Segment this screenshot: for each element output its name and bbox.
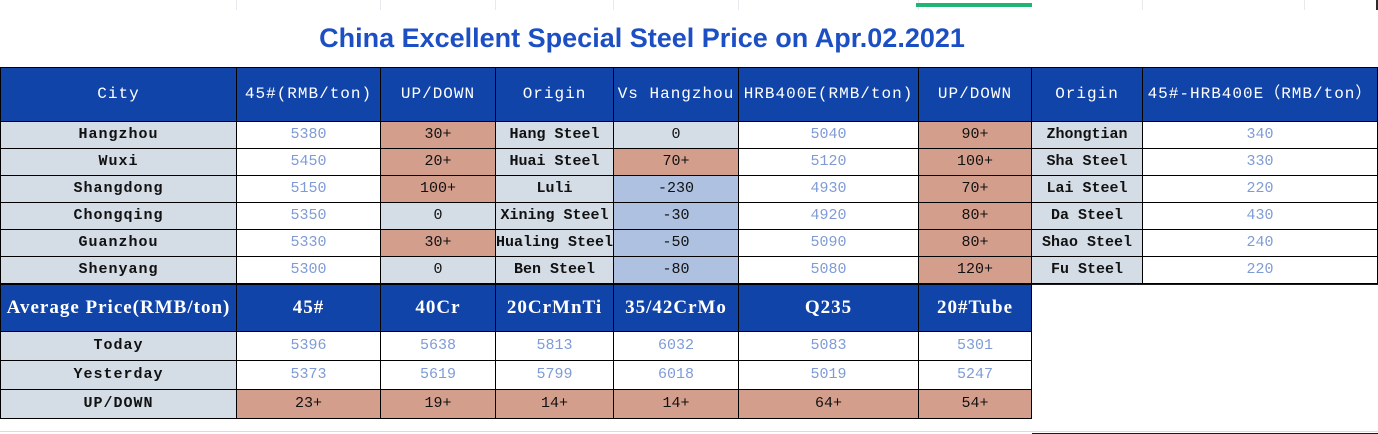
cell-average-value[interactable]: 5619	[381, 361, 496, 390]
cell-city[interactable]: Shangdong	[1, 176, 237, 203]
cell-average-value[interactable]: 14+	[614, 390, 739, 419]
cell-hrb400e-price[interactable]: 5090	[739, 230, 919, 257]
cell-45-origin[interactable]: Hualing Steel	[496, 230, 614, 257]
cell-45-price[interactable]: 5350	[237, 203, 381, 230]
cell-45-price[interactable]: 5330	[237, 230, 381, 257]
cell-45-updown[interactable]: 0	[381, 257, 496, 284]
cell-price-diff[interactable]: 430	[1143, 203, 1378, 230]
cell-hrb400e-origin[interactable]: Da Steel	[1032, 203, 1143, 230]
cell-45-origin[interactable]: Huai Steel	[496, 149, 614, 176]
cell-45-updown[interactable]: 20+	[381, 149, 496, 176]
cell-city[interactable]: Shenyang	[1, 257, 237, 284]
cell-hrb400e-origin[interactable]: Shao Steel	[1032, 230, 1143, 257]
cell-hrb400e-updown[interactable]: 80+	[919, 230, 1032, 257]
cell-45-updown[interactable]: 0	[381, 203, 496, 230]
header-45-origin[interactable]: Origin	[496, 68, 614, 122]
cell-price-diff[interactable]: 330	[1143, 149, 1378, 176]
column-separator	[613, 0, 614, 10]
average-price-table: Average Price(RMB/ton) 45# 40Cr 20CrMnTi…	[0, 284, 1032, 419]
table-row: Today539656385813603250835301	[1, 332, 1032, 361]
column-separator	[1304, 0, 1305, 10]
cell-hrb400e-price[interactable]: 4920	[739, 203, 919, 230]
cell-hrb400e-price[interactable]: 4930	[739, 176, 919, 203]
column-separator	[380, 0, 381, 10]
cell-hrb400e-updown[interactable]: 70+	[919, 176, 1032, 203]
cell-city[interactable]: Hangzhou	[1, 122, 237, 149]
cell-vs-hangzhou[interactable]: 0	[614, 122, 739, 149]
cell-45-origin[interactable]: Luli	[496, 176, 614, 203]
table-row: Chongqing53500Xining Steel-30492080+Da S…	[1, 203, 1378, 230]
table-row: Guanzhou533030+Hualing Steel-50509080+Sh…	[1, 230, 1378, 257]
cell-average-value[interactable]: 5396	[237, 332, 381, 361]
cell-45-price[interactable]: 5150	[237, 176, 381, 203]
header-grade-45[interactable]: 45#	[237, 285, 381, 332]
cell-average-value[interactable]: 5638	[381, 332, 496, 361]
header-average-price[interactable]: Average Price(RMB/ton)	[1, 285, 237, 332]
header-hrb400e-origin[interactable]: Origin	[1032, 68, 1143, 122]
column-separator	[1142, 0, 1143, 10]
cell-45-origin[interactable]: Hang Steel	[496, 122, 614, 149]
column-separator	[236, 0, 237, 10]
cell-average-value[interactable]: 6032	[614, 332, 739, 361]
table-row: Hangzhou538030+Hang Steel0504090+Zhongti…	[1, 122, 1378, 149]
header-city[interactable]: City	[1, 68, 237, 122]
page-title: China Excellent Special Steel Price on A…	[319, 23, 965, 54]
header-grade-3542crmo[interactable]: 35/42CrMo	[614, 285, 739, 332]
header-45-updown[interactable]: UP/DOWN	[381, 68, 496, 122]
header-hrb400e-price[interactable]: HRB400E(RMB/ton)	[739, 68, 919, 122]
column-separator	[738, 0, 739, 10]
cell-average-value[interactable]: 5019	[739, 361, 919, 390]
header-grade-20crmnti[interactable]: 20CrMnTi	[496, 285, 614, 332]
cell-hrb400e-updown[interactable]: 80+	[919, 203, 1032, 230]
spreadsheet-canvas: China Excellent Special Steel Price on A…	[0, 0, 1378, 432]
cell-average-value[interactable]: 64+	[739, 390, 919, 419]
title-band: China Excellent Special Steel Price on A…	[0, 10, 1378, 67]
cell-average-value[interactable]: 5799	[496, 361, 614, 390]
cell-average-value[interactable]: 54+	[919, 390, 1032, 419]
header-vs-hangzhou[interactable]: Vs Hangzhou	[614, 68, 739, 122]
cell-vs-hangzhou[interactable]: 70+	[614, 149, 739, 176]
cell-row-label[interactable]: UP/DOWN	[1, 390, 237, 419]
cell-hrb400e-origin[interactable]: Sha Steel	[1032, 149, 1143, 176]
cell-45-price[interactable]: 5300	[237, 257, 381, 284]
cell-hrb400e-origin[interactable]: Zhongtian	[1032, 122, 1143, 149]
header-grade-40cr[interactable]: 40Cr	[381, 285, 496, 332]
cell-hrb400e-updown[interactable]: 90+	[919, 122, 1032, 149]
cell-price-diff[interactable]: 220	[1143, 176, 1378, 203]
column-separator	[495, 0, 496, 10]
cell-hrb400e-price[interactable]: 5080	[739, 257, 919, 284]
cell-average-value[interactable]: 6018	[614, 361, 739, 390]
cell-average-value[interactable]: 23+	[237, 390, 381, 419]
header-45-price[interactable]: 45#(RMB/ton)	[237, 68, 381, 122]
table-row: UP/DOWN23+19+14+14+64+54+	[1, 390, 1032, 419]
cell-city[interactable]: Wuxi	[1, 149, 237, 176]
header-hrb400e-updown[interactable]: UP/DOWN	[919, 68, 1032, 122]
cell-vs-hangzhou[interactable]: -50	[614, 230, 739, 257]
cell-row-label[interactable]: Yesterday	[1, 361, 237, 390]
cell-45-price[interactable]: 5380	[237, 122, 381, 149]
cell-45-updown[interactable]: 30+	[381, 122, 496, 149]
cell-hrb400e-updown[interactable]: 100+	[919, 149, 1032, 176]
cell-row-label[interactable]: Today	[1, 332, 237, 361]
average-header-row: Average Price(RMB/ton) 45# 40Cr 20CrMnTi…	[1, 285, 1032, 332]
selected-column-indicator[interactable]	[916, 3, 1032, 7]
cell-45-origin[interactable]: Xining Steel	[496, 203, 614, 230]
header-grade-20tube[interactable]: 20#Tube	[919, 285, 1032, 332]
cell-average-value[interactable]: 5083	[739, 332, 919, 361]
empty-region	[1032, 284, 1378, 434]
header-grade-q235[interactable]: Q235	[739, 285, 919, 332]
cell-hrb400e-price[interactable]: 5040	[739, 122, 919, 149]
cell-price-diff[interactable]: 240	[1143, 230, 1378, 257]
cell-45-updown[interactable]: 100+	[381, 176, 496, 203]
cell-hrb400e-updown[interactable]: 120+	[919, 257, 1032, 284]
cell-vs-hangzhou[interactable]: -30	[614, 203, 739, 230]
cell-average-value[interactable]: 5247	[919, 361, 1032, 390]
table-row: Wuxi545020+Huai Steel70+5120100+Sha Stee…	[1, 149, 1378, 176]
cell-price-diff[interactable]: 340	[1143, 122, 1378, 149]
cell-average-value[interactable]: 14+	[496, 390, 614, 419]
cell-price-diff[interactable]: 220	[1143, 257, 1378, 284]
table-header-row: City 45#(RMB/ton) UP/DOWN Origin Vs Hang…	[1, 68, 1378, 122]
cell-45-price[interactable]: 5450	[237, 149, 381, 176]
header-price-diff[interactable]: 45#-HRB400E（RMB/ton）	[1143, 68, 1378, 122]
cell-average-value[interactable]: 5301	[919, 332, 1032, 361]
cell-city[interactable]: Guanzhou	[1, 230, 237, 257]
table-row: Yesterday537356195799601850195247	[1, 361, 1032, 390]
cell-average-value[interactable]: 5373	[237, 361, 381, 390]
table-row: Shenyang53000Ben Steel-805080120+Fu Stee…	[1, 257, 1378, 284]
cell-45-updown[interactable]: 30+	[381, 230, 496, 257]
cell-vs-hangzhou[interactable]: -80	[614, 257, 739, 284]
cell-45-origin[interactable]: Ben Steel	[496, 257, 614, 284]
steel-price-table: City 45#(RMB/ton) UP/DOWN Origin Vs Hang…	[0, 67, 1378, 284]
cell-hrb400e-origin[interactable]: Lai Steel	[1032, 176, 1143, 203]
cell-hrb400e-origin[interactable]: Fu Steel	[1032, 257, 1143, 284]
cell-city[interactable]: Chongqing	[1, 203, 237, 230]
table-row: Shangdong5150100+Luli-230493070+Lai Stee…	[1, 176, 1378, 203]
cell-average-value[interactable]: 19+	[381, 390, 496, 419]
cell-average-value[interactable]: 5813	[496, 332, 614, 361]
cell-vs-hangzhou[interactable]: -230	[614, 176, 739, 203]
cell-hrb400e-price[interactable]: 5120	[739, 149, 919, 176]
